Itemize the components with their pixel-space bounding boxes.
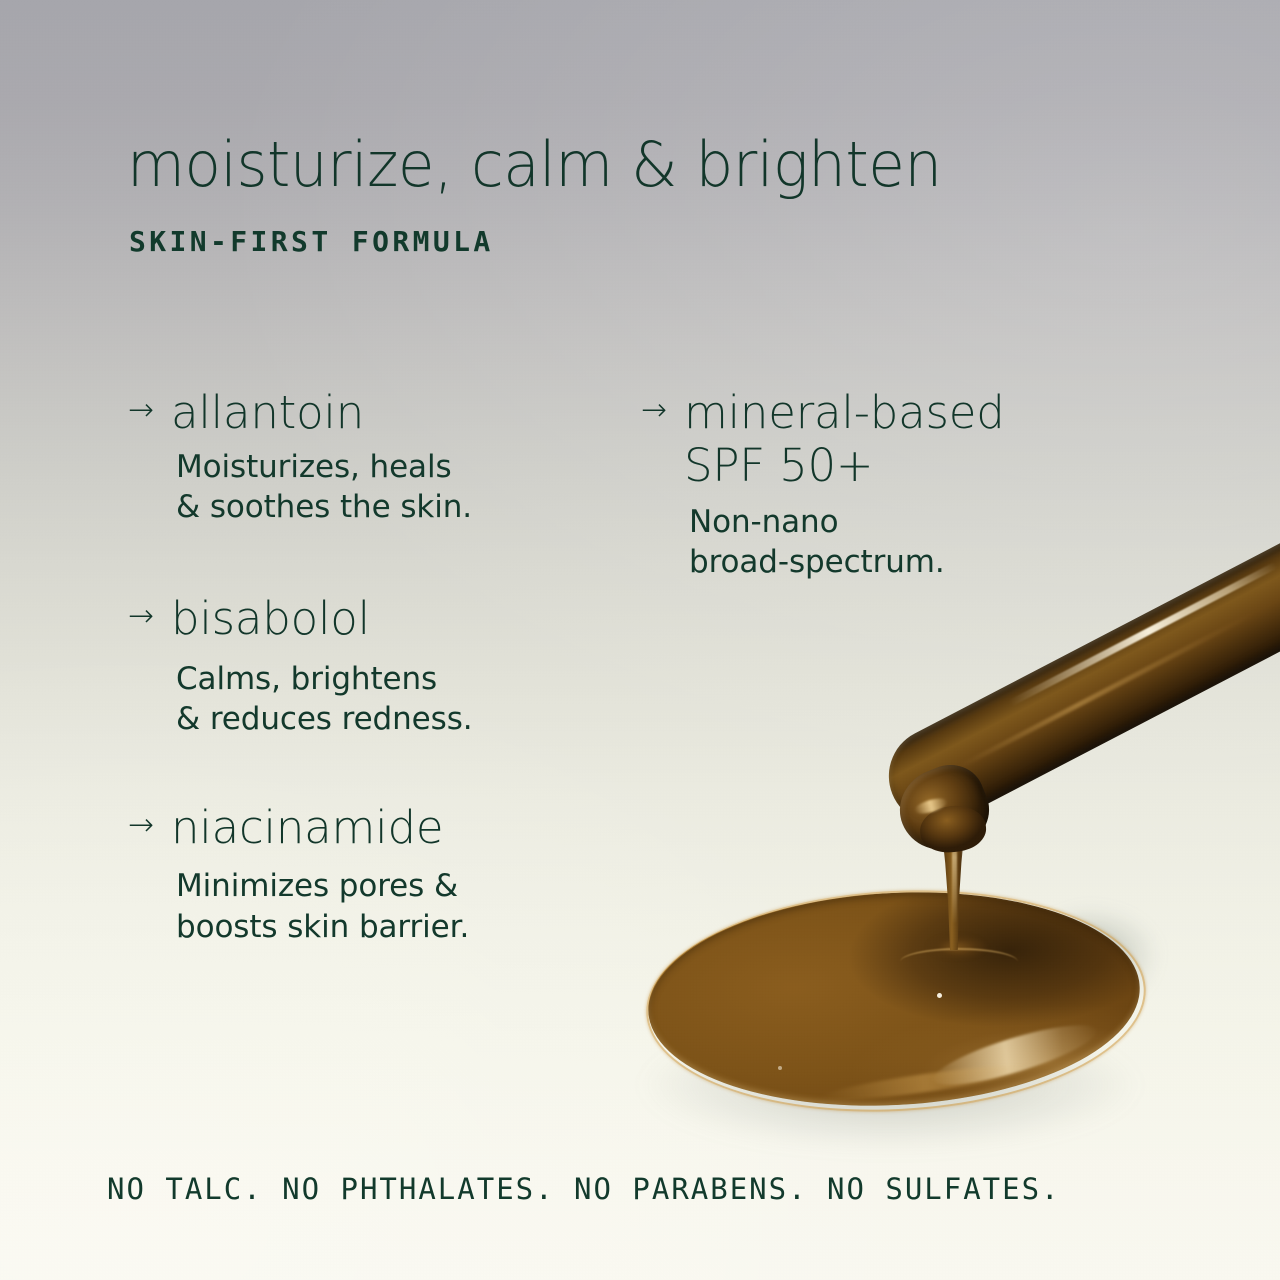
ingredient-description: Calms, brightens & reduces redness. bbox=[176, 659, 598, 740]
ingredient-item: → niacinamide Minimizes pores & boosts s… bbox=[128, 801, 598, 947]
ingredient-name: niacinamide bbox=[171, 801, 443, 854]
arrow-right-icon: → bbox=[128, 592, 154, 637]
ingredient-item: → allantoin Moisturizes, heals & soothes… bbox=[128, 386, 598, 528]
ingredient-column-left: → allantoin Moisturizes, heals & soothes… bbox=[128, 386, 598, 947]
arrow-right-icon: → bbox=[128, 386, 154, 431]
product-ingredient-card: moisturize, calm & brighten SKIN-FIRST F… bbox=[0, 0, 1280, 1280]
text-layer: moisturize, calm & brighten SKIN-FIRST F… bbox=[0, 0, 1280, 1280]
ingredient-description: Moisturizes, heals & soothes the skin. bbox=[176, 447, 598, 528]
arrow-right-icon: → bbox=[641, 386, 667, 431]
ingredient-heading: → bisabolol bbox=[128, 592, 598, 645]
ingredient-name: bisabolol bbox=[171, 592, 370, 645]
ingredient-column-right: → mineral-based SPF 50+ Non-nano broad-s… bbox=[641, 386, 1141, 583]
ingredient-heading: → allantoin bbox=[128, 386, 598, 439]
ingredient-item: → bisabolol Calms, brightens & reduces r… bbox=[128, 592, 598, 740]
page-title: moisturize, calm & brighten bbox=[127, 128, 942, 201]
ingredient-item: → mineral-based SPF 50+ Non-nano broad-s… bbox=[641, 386, 1141, 583]
ingredient-name: allantoin bbox=[171, 386, 364, 439]
arrow-right-icon: → bbox=[128, 801, 154, 846]
ingredient-description: Non-nano broad-spectrum. bbox=[689, 502, 1141, 583]
free-from-claims: NO TALC. NO PHTHALATES. NO PARABENS. NO … bbox=[107, 1172, 1061, 1206]
page-subtitle: SKIN-FIRST FORMULA bbox=[129, 225, 494, 258]
ingredient-name: mineral-based SPF 50+ bbox=[684, 386, 1005, 492]
ingredient-heading: → niacinamide bbox=[128, 801, 598, 854]
ingredient-heading: → mineral-based SPF 50+ bbox=[641, 386, 1141, 492]
ingredient-description: Minimizes pores & boosts skin barrier. bbox=[176, 866, 598, 947]
